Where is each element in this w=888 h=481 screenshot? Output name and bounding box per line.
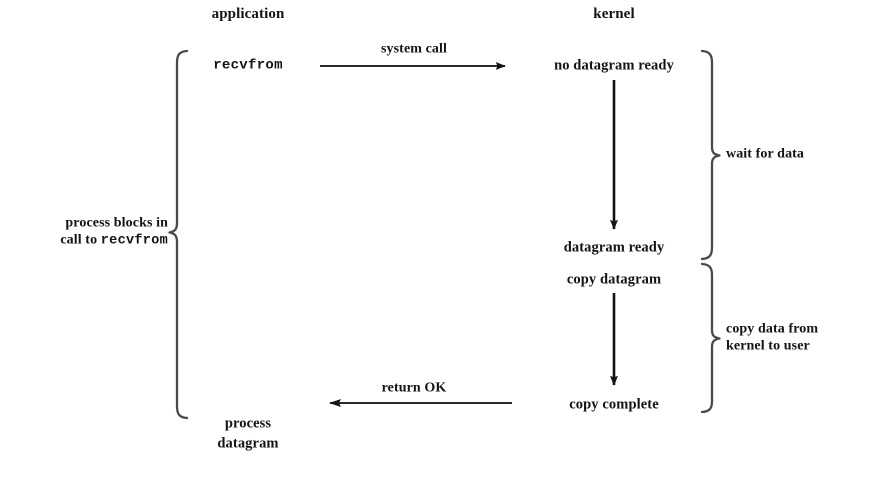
- brace-label-process-blocks-line2-mono: recvfrom: [101, 233, 168, 248]
- brace-label-process-blocks-line2-prefix: call to: [60, 232, 100, 247]
- node-process-datagram-line1: process: [225, 415, 271, 432]
- node-copy-datagram: copy datagram: [567, 271, 661, 288]
- wait-for-data-brace: [702, 51, 720, 259]
- copy-data-brace: [702, 264, 720, 412]
- brace-label-copy-data-line2: kernel to user: [726, 338, 818, 355]
- node-copy-complete: copy complete: [569, 396, 658, 413]
- brace-label-process-blocks-line1: process blocks in: [60, 215, 168, 232]
- arrow-label-return-ok: return OK: [382, 381, 447, 398]
- column-heading-kernel: kernel: [593, 6, 634, 24]
- arrow-label-system-call: system call: [381, 42, 447, 59]
- node-recvfrom: recvfrom: [213, 58, 283, 75]
- node-datagram-ready: datagram ready: [564, 239, 665, 256]
- node-process-datagram-line2: datagram: [217, 435, 278, 452]
- process-blocks-brace: [170, 51, 188, 418]
- node-no-datagram-ready: no datagram ready: [554, 57, 674, 74]
- brace-label-process-blocks: process blocks in call to recvfrom: [60, 215, 168, 248]
- brace-label-copy-data-line1: copy data from: [726, 321, 818, 338]
- brace-label-wait-for-data: wait for data: [726, 147, 804, 164]
- brace-label-copy-data: copy data from kernel to user: [726, 321, 818, 354]
- brace-label-process-blocks-line2: call to recvfrom: [60, 232, 168, 249]
- column-heading-application: application: [212, 6, 285, 24]
